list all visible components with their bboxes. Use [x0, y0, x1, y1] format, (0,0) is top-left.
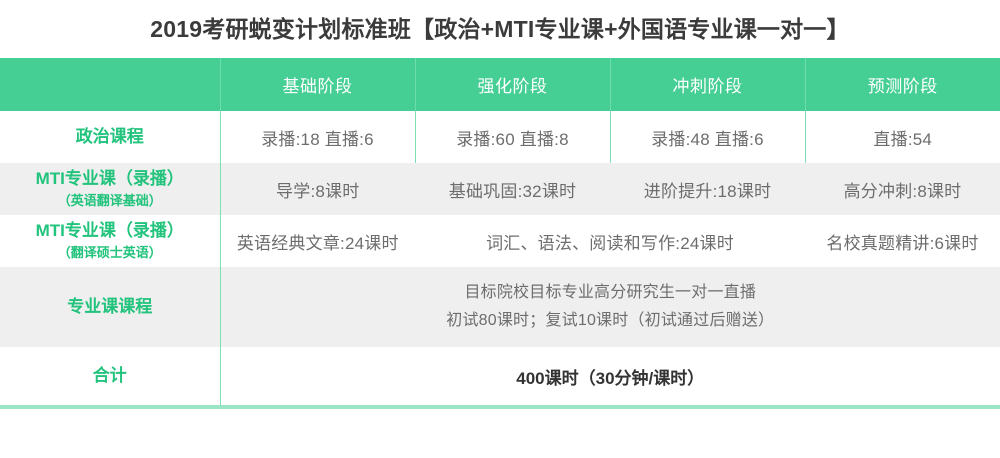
- cell-mti1-basic: 导学:8课时: [220, 163, 415, 215]
- table-bottom-accent-bar: [0, 405, 1000, 409]
- cell-politics-intensive: 录播:60 直播:8: [415, 111, 610, 163]
- table-body: 政治课程 录播:18 直播:6 录播:60 直播:8 录播:48 直播:6 直播…: [0, 111, 1000, 405]
- cell-mti2-prediction: 名校真题精讲:6课时: [805, 215, 1000, 267]
- table-row-mti-translation-basics: MTI专业课（录播） （英语翻译基础） 导学:8课时 基础巩固:32课时 进阶提…: [0, 163, 1000, 215]
- header-row: 基础阶段 强化阶段 冲刺阶段 预测阶段: [0, 58, 1000, 111]
- major-course-line-2: 初试80课时；复试10课时（初试通过后赠送）: [221, 307, 1000, 335]
- header-stage-sprint: 冲刺阶段: [610, 58, 805, 111]
- cell-politics-sprint: 录播:48 直播:6: [610, 111, 805, 163]
- header-corner-cell: [0, 58, 220, 111]
- row-label-politics: 政治课程: [0, 111, 220, 163]
- row-label-main-text: MTI专业课（录播）: [36, 169, 184, 188]
- cell-mti1-prediction: 高分冲刺:8课时: [805, 163, 1000, 215]
- course-plan-page: 2019考研蜕变计划标准班【政治+MTI专业课+外国语专业课一对一】 基础阶段 …: [0, 0, 1000, 458]
- header-stage-intensive: 强化阶段: [415, 58, 610, 111]
- row-label-sub-text: （翻译硕士英语）: [0, 244, 220, 262]
- page-title: 2019考研蜕变计划标准班【政治+MTI专业课+外国语专业课一对一】: [0, 0, 1000, 58]
- cell-mti1-sprint: 进阶提升:18课时: [610, 163, 805, 215]
- row-label-total: 合计: [0, 347, 220, 405]
- header-stage-prediction: 预测阶段: [805, 58, 1000, 111]
- table-row-total: 合计 400课时（30分钟/课时）: [0, 347, 1000, 405]
- cell-major-course-detail: 目标院校目标专业高分研究生一对一直播 初试80课时；复试10课时（初试通过后赠送…: [220, 267, 1000, 347]
- cell-politics-basic: 录播:18 直播:6: [220, 111, 415, 163]
- table-row-mti-master-english: MTI专业课（录播） （翻译硕士英语） 英语经典文章:24课时 词汇、语法、阅读…: [0, 215, 1000, 267]
- row-label-major-course: 专业课课程: [0, 267, 220, 347]
- cell-mti2-basic: 英语经典文章:24课时: [220, 215, 415, 267]
- row-label-sub-text: （英语翻译基础）: [0, 192, 220, 210]
- header-stage-basic: 基础阶段: [220, 58, 415, 111]
- table-row-major-course: 专业课课程 目标院校目标专业高分研究生一对一直播 初试80课时；复试10课时（初…: [0, 267, 1000, 347]
- cell-total-value: 400课时（30分钟/课时）: [220, 347, 1000, 405]
- major-course-line-1: 目标院校目标专业高分研究生一对一直播: [221, 279, 1000, 307]
- cell-mti2-intensive-sprint: 词汇、语法、阅读和写作:24课时: [415, 215, 805, 267]
- course-schedule-table: 基础阶段 强化阶段 冲刺阶段 预测阶段 政治课程 录播:18 直播:6 录播:6…: [0, 58, 1000, 405]
- cell-politics-prediction: 直播:54: [805, 111, 1000, 163]
- row-label-mti-translation-basics: MTI专业课（录播） （英语翻译基础）: [0, 163, 220, 215]
- row-label-mti-master-english: MTI专业课（录播） （翻译硕士英语）: [0, 215, 220, 267]
- row-label-main-text: MTI专业课（录播）: [36, 221, 184, 240]
- table-row-politics: 政治课程 录播:18 直播:6 录播:60 直播:8 录播:48 直播:6 直播…: [0, 111, 1000, 163]
- table-header: 基础阶段 强化阶段 冲刺阶段 预测阶段: [0, 58, 1000, 111]
- cell-mti1-intensive: 基础巩固:32课时: [415, 163, 610, 215]
